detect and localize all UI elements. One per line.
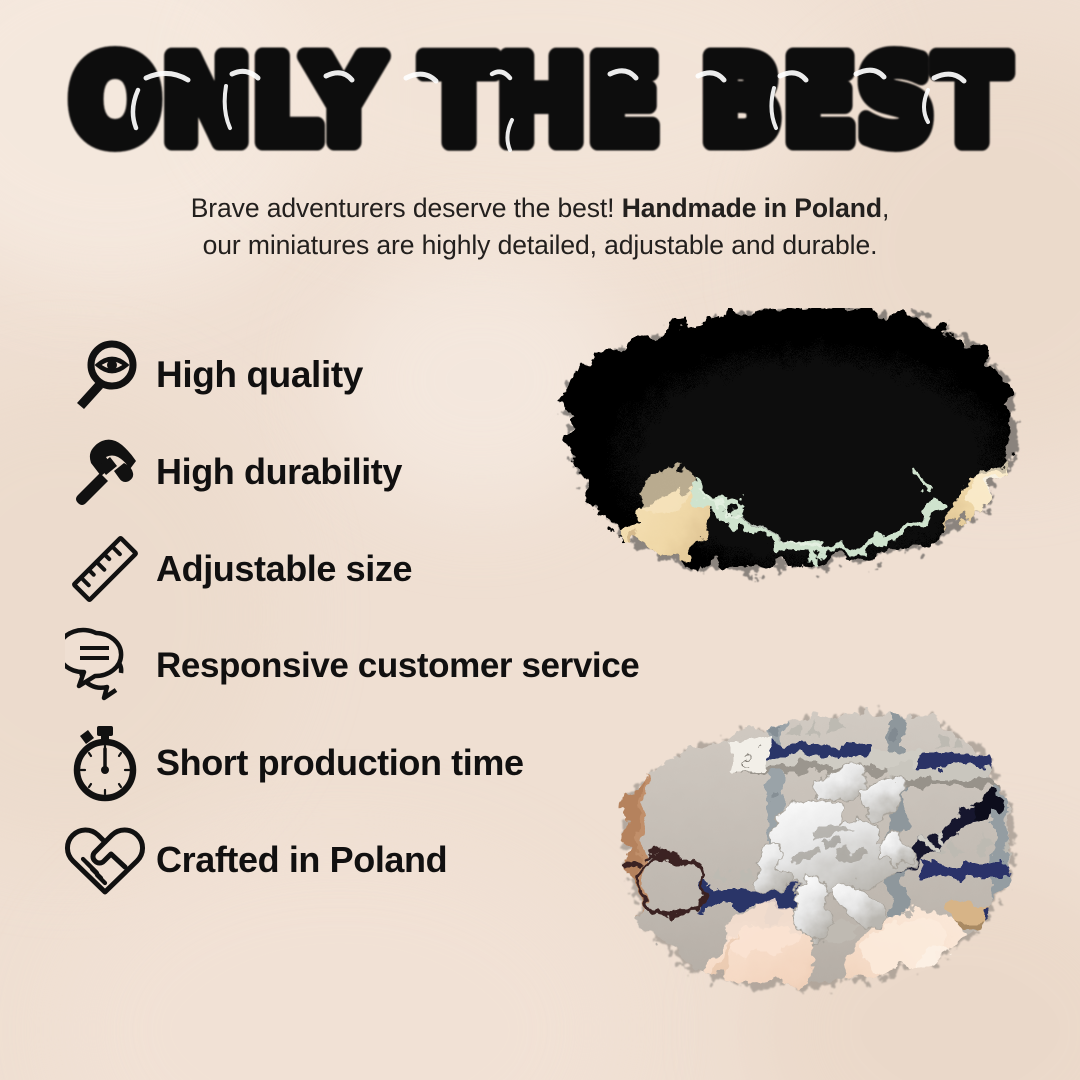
heart-handshake-icon — [62, 817, 148, 903]
magnifier-eye-icon — [62, 332, 148, 418]
feature-label: Crafted in Poland — [156, 839, 447, 881]
photo-fingers-holding-miniature-part — [520, 308, 1080, 624]
feature-label: High quality — [156, 354, 363, 396]
speech-bubbles-icon — [62, 623, 148, 709]
title-artwork: ONLY THE BEST — [50, 34, 1030, 174]
photo-canvas — [520, 308, 1080, 624]
stopwatch-icon — [62, 720, 148, 806]
poster-root: ONLY THE BEST Brav — [0, 0, 1080, 1080]
subtitle-line-2: our miniatures are highly detailed, adju… — [0, 227, 1080, 264]
subtitle-line-1: Brave adventurers deserve the best! Hand… — [0, 190, 1080, 227]
feature-label: Adjustable size — [156, 548, 412, 590]
title-text: ONLY THE BEST — [70, 34, 1010, 170]
subtitle-line1-pre: Brave adventurers deserve the best! — [191, 193, 622, 223]
feature-label: High durability — [156, 451, 402, 493]
feature-label: Responsive customer service — [156, 646, 639, 686]
svg-text:2: 2 — [746, 749, 754, 765]
hammer-icon — [62, 429, 148, 515]
subtitle: Brave adventurers deserve the best! Hand… — [0, 190, 1080, 264]
feature-label: Short production time — [156, 742, 524, 784]
photo-hands-crafting-dragon-miniature: 2 — [588, 692, 1080, 1080]
photo-canvas: 2 — [588, 692, 1080, 1080]
subtitle-highlight: Handmade in Poland — [622, 193, 882, 223]
subtitle-line1-post: , — [882, 193, 889, 223]
ruler-icon — [62, 526, 148, 612]
page-title: ONLY THE BEST — [0, 34, 1080, 174]
